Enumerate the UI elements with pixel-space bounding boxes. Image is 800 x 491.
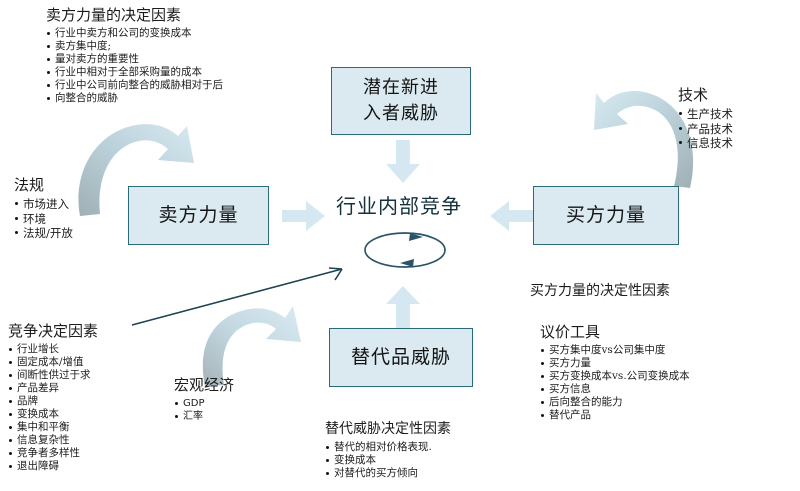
buyer-factors-title: 买方力量的决定性因素: [530, 282, 670, 301]
list-item: 汇率: [174, 410, 234, 423]
regulation-list: 市场进入 环境 法规/开放: [14, 197, 73, 241]
list-item: 间断性供过于求: [8, 369, 98, 382]
substitute-factors-list: 替代的相对价格表现. 变换成本 对替代的买方倾向: [325, 441, 451, 480]
list-item: 买方集中度vs公司集中度: [540, 344, 690, 357]
competition-factors-list: 行业增长 固定成本/增值 间断性供过于求 产品差异 品牌 变换成本 集中和平衡 …: [8, 343, 98, 473]
force-label-new-entrants: 潜在新进 入者威胁: [363, 75, 439, 127]
list-item: 生产技术: [678, 107, 733, 122]
list-item: 行业增长: [8, 343, 98, 356]
block-arrow-left-buyers: [489, 200, 533, 232]
substitute-factors-block: 替代威胁决定性因素 替代的相对价格表现. 变换成本 对替代的买方倾向: [325, 420, 451, 480]
technology-block: 技术 生产技术 产品技术 信息技术: [678, 86, 733, 151]
list-item: 买方变换成本vs.公司变换成本: [540, 370, 690, 383]
buyer-factors-list: 买方集中度vs公司集中度 买方力量 买方变换成本vs.公司变换成本 买方信息 后…: [540, 344, 690, 422]
list-item: 买方力量: [540, 357, 690, 370]
buyer-factors-tools-block: 议价工具 买方集中度vs公司集中度 买方力量 买方变换成本vs.公司变换成本 买…: [540, 323, 690, 422]
list-item: 竞争者多样性: [8, 447, 98, 460]
list-item: 行业中相对于全部采购量的成本: [46, 66, 223, 79]
force-label-substitutes: 替代品威胁: [351, 345, 451, 370]
force-box-new-entrants[interactable]: 潜在新进 入者威胁: [331, 67, 471, 135]
list-item: 产品技术: [678, 122, 733, 137]
list-item: 信息技术: [678, 136, 733, 151]
list-item: 品牌: [8, 395, 98, 408]
competition-factors-block: 竞争决定因素 行业增长 固定成本/增值 间断性供过于求 产品差异 品牌 变换成本…: [8, 322, 98, 473]
force-box-substitutes[interactable]: 替代品威胁: [329, 328, 473, 387]
list-item: 卖方集中度;: [46, 40, 223, 53]
list-item: 行业中卖方和公司的变换成本: [46, 27, 223, 40]
force-label-rivalry: 行业内部竞争: [336, 194, 462, 218]
list-item: 替代产品: [540, 409, 690, 422]
competition-factors-title: 竞争决定因素: [8, 322, 98, 341]
supplier-factors-block: 卖方力量的决定因素 行业中卖方和公司的变换成本 卖方集中度; 量对卖方的重要性 …: [46, 6, 223, 105]
competition-factors-line-arrow: [130, 255, 350, 335]
list-item: 市场进入: [14, 197, 73, 212]
list-item: 变换成本: [325, 454, 451, 467]
substitute-factors-title: 替代威胁决定性因素: [325, 420, 451, 439]
regulation-block: 法规 市场进入 环境 法规/开放: [14, 176, 73, 241]
supplier-factors-list: 行业中卖方和公司的变换成本 卖方集中度; 量对卖方的重要性 行业中相对于全部采购…: [46, 27, 223, 105]
list-item: 买方信息: [540, 383, 690, 396]
list-item: 产品差异: [8, 382, 98, 395]
list-item: 信息复杂性: [8, 434, 98, 447]
list-item: 后向整合的能力: [540, 396, 690, 409]
list-item: 替代的相对价格表现.: [325, 441, 451, 454]
list-item: 量对卖方的重要性: [46, 53, 223, 66]
buyer-factors-subtitle: 议价工具: [540, 323, 690, 342]
list-item: 集中和平衡: [8, 421, 98, 434]
force-label-suppliers: 卖方力量: [158, 203, 238, 228]
rivalry-loop-arrow: [362, 227, 448, 273]
list-item: 向整合的威胁: [46, 92, 223, 105]
technology-list: 生产技术 产品技术 信息技术: [678, 107, 733, 151]
list-item: GDP: [174, 397, 234, 410]
macro-economy-title: 宏观经济: [174, 376, 234, 395]
list-item: 固定成本/增值: [8, 356, 98, 369]
diagram-canvas: 潜在新进 入者威胁 卖方力量 买方力量 替代品威胁 行业内部竞争 卖方力量的决定…: [0, 0, 800, 491]
block-arrow-right-suppliers: [282, 200, 326, 232]
list-item: 退出障碍: [8, 460, 98, 473]
block-arrow-up-substitutes: [384, 286, 422, 328]
regulation-title: 法规: [14, 176, 73, 195]
list-item: 对替代的买方倾向: [325, 467, 451, 480]
force-label-buyers: 买方力量: [566, 203, 646, 228]
force-box-buyers[interactable]: 买方力量: [533, 186, 679, 245]
list-item: 行业中公司前向整合的威胁相对于后: [46, 79, 223, 92]
list-item: 变换成本: [8, 408, 98, 421]
macro-economy-list: GDP 汇率: [174, 397, 234, 423]
block-arrow-down-new-entrants: [384, 140, 422, 184]
supplier-factors-title: 卖方力量的决定因素: [46, 6, 223, 25]
technology-title: 技术: [678, 86, 733, 105]
buyer-factors-block: 买方力量的决定性因素: [530, 282, 670, 301]
list-item: 法规/开放: [14, 226, 73, 241]
macro-economy-block: 宏观经济 GDP 汇率: [174, 376, 234, 423]
force-box-suppliers[interactable]: 卖方力量: [128, 186, 269, 245]
list-item: 环境: [14, 212, 73, 227]
